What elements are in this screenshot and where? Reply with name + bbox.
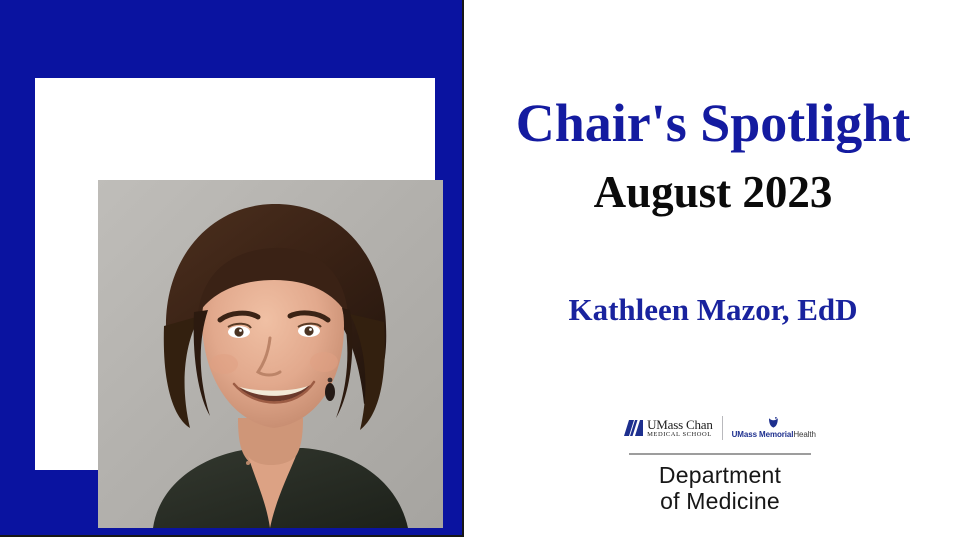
logo-row: UMass Chan MEDICAL SCHOOL UMass Memorial… [600,415,840,441]
department-name: Department of Medicine [600,463,840,515]
umass-chan-mark-icon [624,420,643,436]
umass-memorial-wordmark: UMass MemorialHealth [732,431,816,439]
featured-person-name: Kathleen Mazor, EdD [466,293,960,327]
umass-chan-name: UMass Chan [647,418,713,431]
portrait-white-frame [35,78,435,470]
umass-chan-wordmark: UMass Chan MEDICAL SCHOOL [647,418,713,439]
slide-subtitle-date: August 2023 [466,168,960,218]
left-blue-panel [0,0,464,537]
umass-chan-subname: MEDICAL SCHOOL [647,432,712,439]
department-name-line2: of Medicine [600,489,840,515]
department-name-line1: Department [600,463,840,489]
logo-lockup: UMass Chan MEDICAL SCHOOL UMass Memorial… [600,415,840,515]
logo-vertical-divider [722,416,723,440]
umass-memorial-name: UMass Memorial [732,430,794,439]
umass-memorial-logo: UMass MemorialHealth [732,417,816,439]
presentation-slide: Chair's Spotlight August 2023 Kathleen M… [0,0,960,540]
portrait-photo [98,180,443,528]
umass-memorial-flame-icon [767,417,780,429]
slide-title: Chair's Spotlight [466,95,960,152]
portrait-illustration [98,180,443,528]
umass-memorial-health-word: Health [793,430,816,439]
umass-chan-logo: UMass Chan MEDICAL SCHOOL [624,418,713,439]
logo-horizontal-rule [629,453,811,455]
